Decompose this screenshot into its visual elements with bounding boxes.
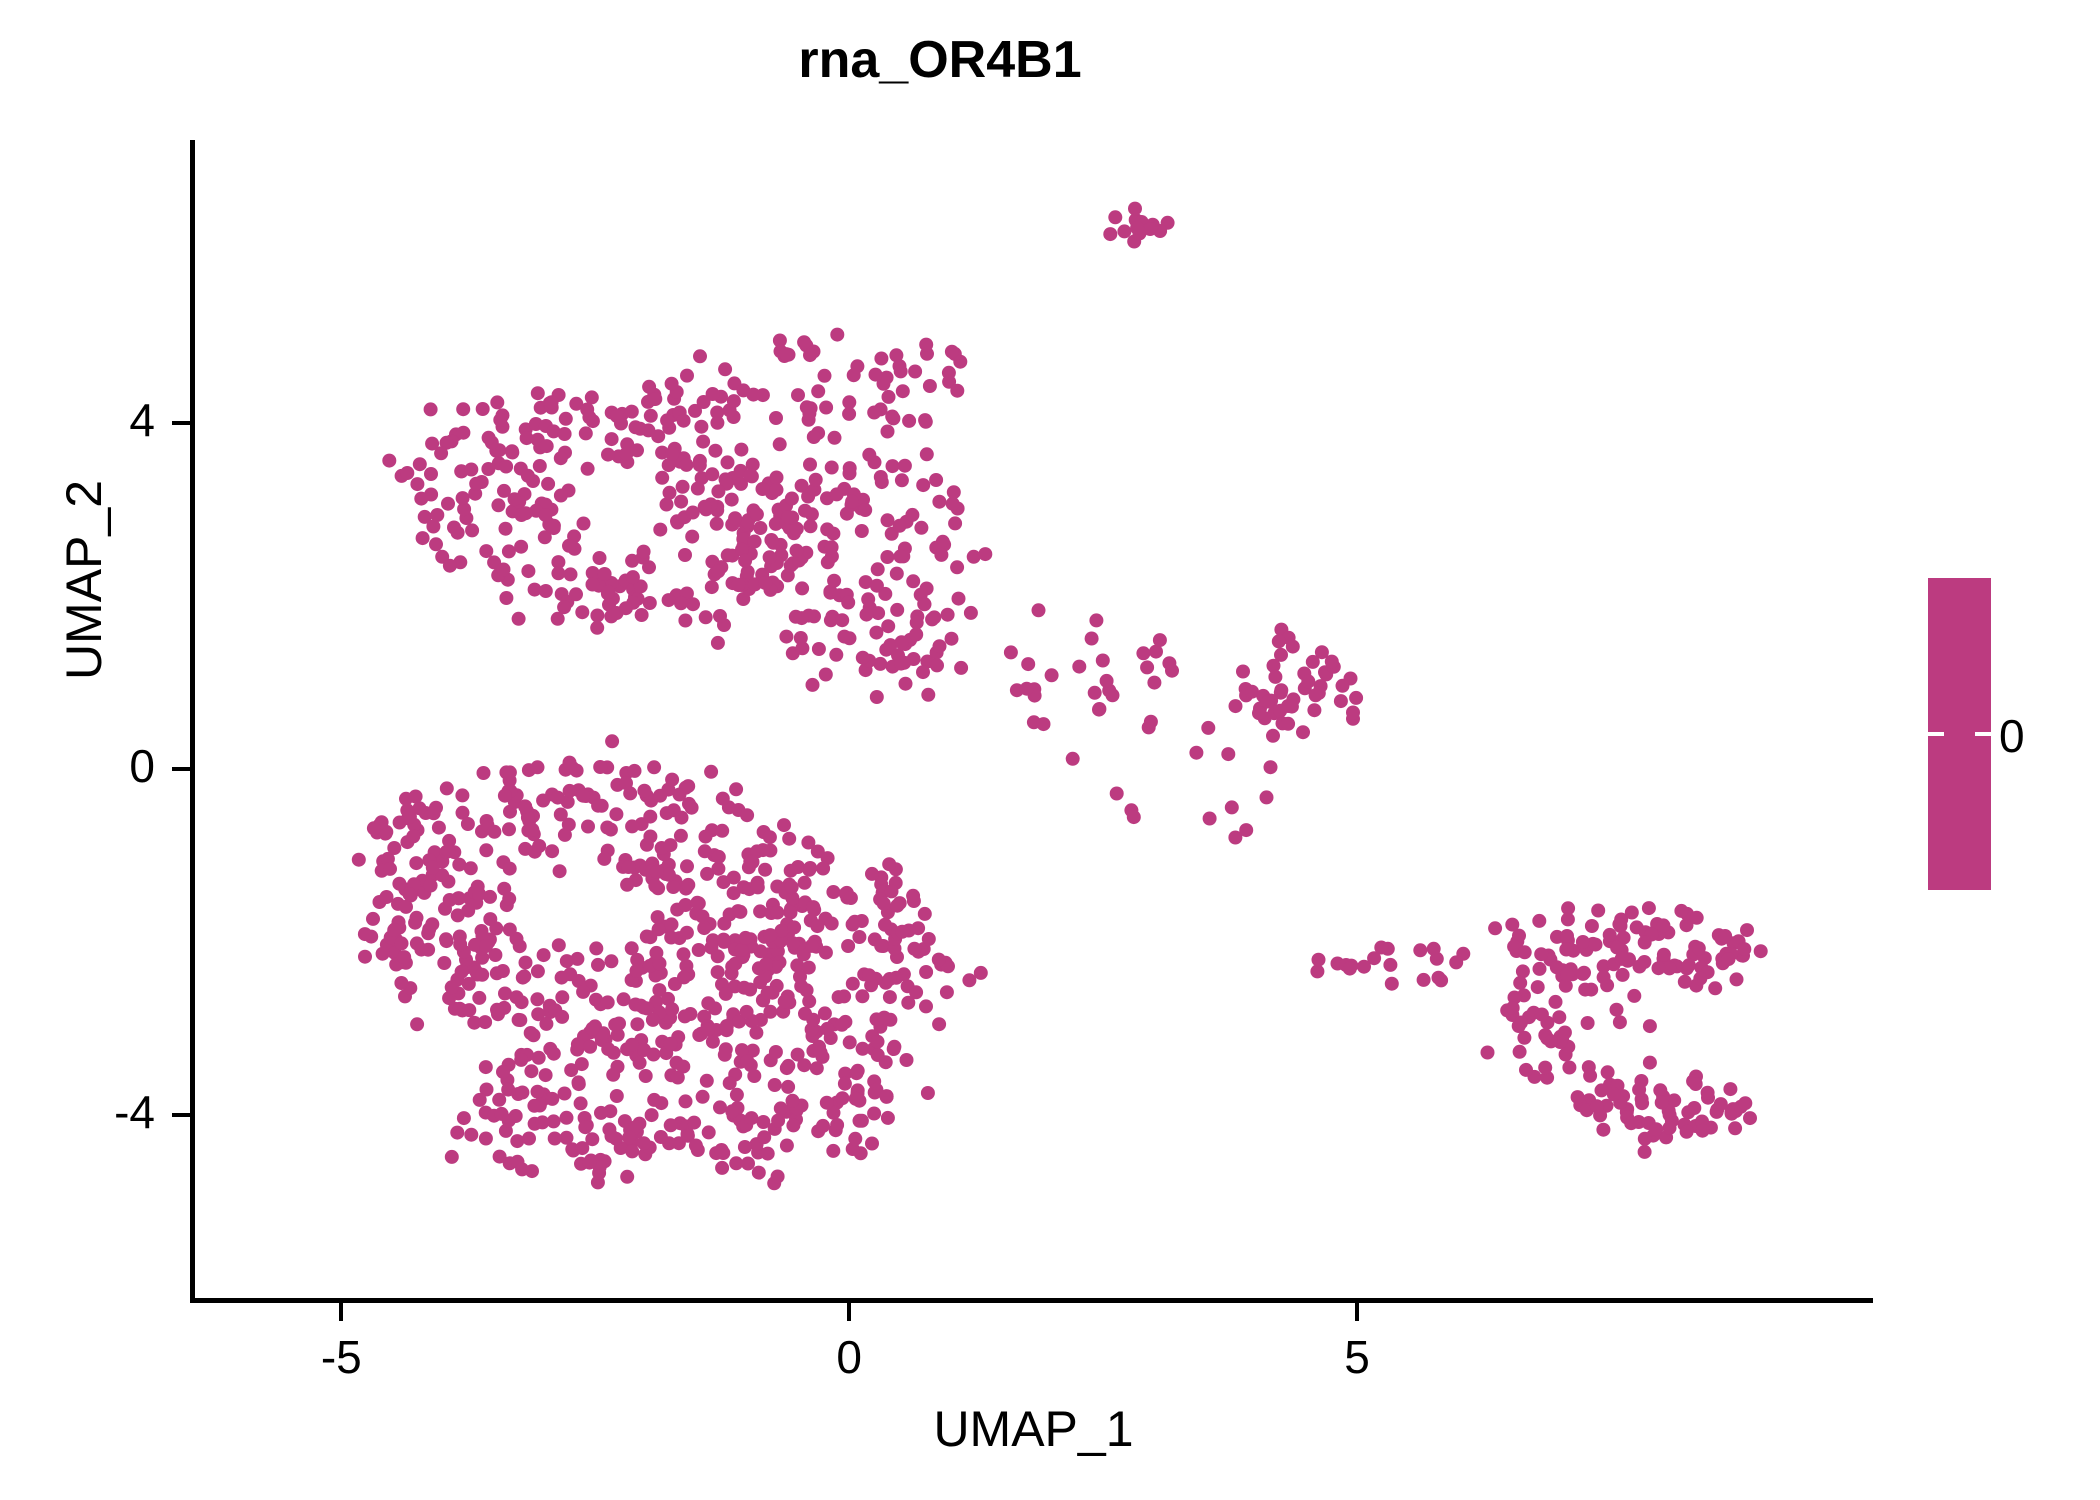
scatter-point (664, 1118, 678, 1132)
scatter-point (430, 508, 444, 522)
scatter-point (680, 926, 694, 940)
scatter-point (914, 521, 928, 535)
scatter-point (545, 844, 559, 858)
scatter-point (569, 587, 583, 601)
scatter-point (664, 838, 678, 852)
scatter-point (829, 648, 843, 662)
scatter-point (601, 585, 615, 599)
scatter-point (952, 592, 966, 606)
scatter-point (497, 563, 511, 577)
scatter-point (499, 460, 513, 474)
scatter-point (609, 807, 623, 821)
scatter-point (827, 574, 841, 588)
scatter-point (604, 954, 618, 968)
scatter-point (1100, 674, 1114, 688)
scatter-point (496, 964, 510, 978)
colorbar-tick-left (1928, 732, 1944, 736)
scatter-point (698, 500, 712, 514)
scatter-point (721, 455, 735, 469)
scatter-point (1696, 1124, 1710, 1138)
scatter-point (625, 819, 639, 833)
scatter-point (739, 931, 753, 945)
scatter-point (1531, 980, 1545, 994)
scatter-point (461, 817, 475, 831)
scatter-point (770, 906, 784, 920)
scatter-point (1481, 1046, 1495, 1060)
scatter-point (749, 1026, 763, 1040)
scatter-point (395, 936, 409, 950)
scatter-point (558, 828, 572, 842)
scatter-point (698, 844, 712, 858)
scatter-point (1307, 703, 1321, 717)
scatter-point (1690, 911, 1704, 925)
scatter-point (773, 437, 787, 451)
scatter-point (875, 475, 889, 489)
scatter-point (410, 1017, 424, 1031)
x-tick-label: 5 (1297, 1330, 1417, 1384)
scatter-point (1581, 1016, 1595, 1030)
scatter-point (409, 790, 423, 804)
scatter-point (1737, 942, 1751, 956)
scatter-point (425, 437, 439, 451)
scatter-point (746, 855, 760, 869)
scatter-point (855, 1114, 869, 1128)
scatter-point (675, 811, 689, 825)
scatter-point (906, 574, 920, 588)
scatter-point (382, 454, 396, 468)
scatter-point (1228, 831, 1242, 845)
scatter-point (1108, 210, 1122, 224)
scatter-point (1066, 752, 1080, 766)
scatter-point (677, 970, 691, 984)
scatter-point (653, 789, 667, 803)
scatter-point (608, 1018, 622, 1032)
scatter-point (1612, 917, 1626, 931)
scatter-point (662, 868, 676, 882)
scatter-point (562, 539, 576, 553)
scatter-point (651, 910, 665, 924)
scatter-point (681, 878, 695, 892)
scatter-point (605, 734, 619, 748)
scatter-point (830, 1118, 844, 1132)
scatter-point (1603, 928, 1617, 942)
scatter-point (879, 1055, 893, 1069)
scatter-point (883, 972, 897, 986)
scatter-point (383, 862, 397, 876)
scatter-point (708, 444, 722, 458)
scatter-point (646, 1013, 660, 1027)
scatter-point (740, 808, 754, 822)
colorbar-tick-right (1975, 732, 1991, 736)
scatter-point (770, 483, 784, 497)
scatter-point (626, 570, 640, 584)
scatter-point (510, 1134, 524, 1148)
scatter-point (1021, 657, 1035, 671)
scatter-point (521, 564, 535, 578)
scatter-point (711, 949, 725, 963)
scatter-point (1201, 721, 1215, 735)
scatter-point (630, 443, 644, 457)
scatter-point (625, 1038, 639, 1052)
scatter-point (539, 508, 553, 522)
scatter-point (1583, 1069, 1597, 1083)
scatter-point (1130, 221, 1144, 235)
scatter-point (1513, 976, 1527, 990)
scatter-point (457, 1111, 471, 1125)
scatter-point (819, 668, 833, 682)
y-axis-label-wrapper: UMAP_2 (44, 180, 124, 980)
scatter-point (1552, 1010, 1566, 1024)
scatter-point (366, 912, 380, 926)
scatter-point (721, 548, 735, 562)
scatter-point (1596, 1123, 1610, 1137)
scatter-point (524, 1026, 538, 1040)
scatter-point (560, 954, 574, 968)
scatter-point (490, 395, 504, 409)
scatter-point (547, 1047, 561, 1061)
scatter-point (835, 613, 849, 627)
scatter-point (727, 394, 741, 408)
scatter-point (918, 907, 932, 921)
scatter-point (462, 1003, 476, 1017)
scatter-point (728, 511, 742, 525)
scatter-point (1723, 1082, 1737, 1096)
scatter-point (1560, 967, 1574, 981)
scatter-point (580, 403, 594, 417)
scatter-point (676, 480, 690, 494)
scatter-point (779, 347, 793, 361)
umap-feature-plot: rna_OR4B1 -505 40-4 UMAP_1 UMAP_2 0 (0, 0, 2100, 1500)
scatter-point (850, 359, 864, 373)
scatter-point (399, 900, 413, 914)
y-tick-mark (172, 1113, 190, 1117)
scatter-point (1153, 633, 1167, 647)
scatter-point (699, 830, 713, 844)
scatter-point (858, 503, 872, 517)
scatter-point (758, 576, 772, 590)
scatter-point (1301, 674, 1315, 688)
scatter-point (874, 352, 888, 366)
scatter-point (678, 548, 692, 562)
scatter-point (397, 950, 411, 964)
scatter-point (1143, 222, 1157, 236)
scatter-point (865, 1137, 879, 1151)
scatter-point (814, 1046, 828, 1060)
scatter-point (1708, 981, 1722, 995)
scatter-point (846, 918, 860, 932)
scatter-point (861, 592, 875, 606)
scatter-point (791, 388, 805, 402)
scatter-point (1635, 1096, 1649, 1110)
scatter-point (1738, 1096, 1752, 1110)
scatter-point (869, 368, 883, 382)
scatter-point (477, 766, 491, 780)
scatter-point (705, 467, 719, 481)
scatter-point (515, 995, 529, 1009)
scatter-point (479, 544, 493, 558)
scatter-point (610, 409, 624, 423)
scatter-point (819, 401, 833, 415)
scatter-point (503, 862, 517, 876)
scatter-point (877, 897, 891, 911)
scatter-point (932, 495, 946, 509)
scatter-point (578, 1120, 592, 1134)
scatter-point (705, 580, 719, 594)
scatter-point (1595, 1083, 1609, 1097)
scatter-point (855, 989, 869, 1003)
x-axis-label: UMAP_1 (194, 1400, 1873, 1458)
scatter-point (662, 593, 676, 607)
scatter-point (881, 619, 895, 633)
scatter-point (906, 889, 920, 903)
scatter-point (846, 977, 860, 991)
scatter-point (862, 448, 876, 462)
scatter-point (1559, 943, 1573, 957)
scatter-point (1578, 983, 1592, 997)
scatter-point (515, 1162, 529, 1176)
scatter-point (797, 335, 811, 349)
scatter-point (1689, 1077, 1703, 1091)
scatter-point (964, 606, 978, 620)
scatter-point (898, 459, 912, 473)
scatter-point (519, 506, 533, 520)
scatter-point (725, 1104, 739, 1118)
scatter-point (1558, 1026, 1572, 1040)
scatter-point (804, 519, 818, 533)
scatter-point (746, 388, 760, 402)
scatter-point (733, 905, 747, 919)
scatter-point (1680, 1125, 1694, 1139)
scatter-point (881, 513, 895, 527)
scatter-point (601, 995, 615, 1009)
x-tick-mark (847, 1303, 851, 1321)
scatter-point (1740, 923, 1754, 937)
scatter-point (916, 478, 930, 492)
scatter-point (558, 427, 572, 441)
scatter-point (1642, 901, 1656, 915)
scatter-point (1638, 1145, 1652, 1159)
scatter-point (1349, 691, 1363, 705)
scatter-point (893, 549, 907, 563)
scatter-point (630, 1017, 644, 1031)
scatter-point (643, 830, 657, 844)
y-axis-label: UMAP_2 (44, 180, 124, 980)
scatter-point (679, 1094, 693, 1108)
scatter-point (795, 581, 809, 595)
scatter-point (576, 789, 590, 803)
scatter-point (900, 1053, 914, 1067)
scatter-point (1357, 960, 1371, 974)
scatter-point (666, 880, 680, 894)
scatter-point (678, 1009, 692, 1023)
scatter-point (945, 632, 959, 646)
scatter-point (517, 969, 531, 983)
scatter-point (845, 495, 859, 509)
scatter-point (719, 987, 733, 1001)
scatter-point (483, 912, 497, 926)
scatter-point (692, 943, 706, 957)
scatter-point (413, 457, 427, 471)
scatter-point (737, 981, 751, 995)
scatter-point (619, 776, 633, 790)
scatter-point (1517, 1031, 1531, 1045)
scatter-point (478, 1015, 492, 1029)
scatter-point (787, 920, 801, 934)
scatter-point (782, 510, 796, 524)
scatter-point (650, 865, 664, 879)
scatter-point (555, 1010, 569, 1024)
scatter-point (819, 946, 833, 960)
scatter-point (575, 1057, 589, 1071)
scatter-point (680, 369, 694, 383)
scatter-point (571, 1037, 585, 1051)
scatter-point (841, 596, 855, 610)
scatter-point (835, 1091, 849, 1105)
scatter-point (1571, 1090, 1585, 1104)
x-tick-mark (339, 1303, 343, 1321)
scatter-point (559, 412, 573, 426)
scatter-point (925, 612, 939, 626)
scatter-point (1417, 973, 1431, 987)
scatter-point (706, 387, 720, 401)
scatter-point (809, 473, 823, 487)
scatter-point (910, 616, 924, 630)
scatter-point (531, 1085, 545, 1099)
scatter-point (869, 626, 883, 640)
scatter-point (1088, 686, 1102, 700)
scatter-point (518, 842, 532, 856)
scatter-point (498, 987, 512, 1001)
scatter-point (738, 554, 752, 568)
scatter-point (680, 859, 694, 873)
scatter-point (770, 471, 784, 485)
scatter-point (601, 1042, 615, 1056)
scatter-point (867, 406, 881, 420)
scatter-point (855, 524, 869, 538)
scatter-point (950, 384, 964, 398)
scatter-point (717, 875, 731, 889)
scatter-point (849, 1092, 863, 1106)
scatter-point (1728, 1121, 1742, 1135)
scatter-point (1718, 929, 1732, 943)
scatter-point (1561, 901, 1575, 915)
scatter-point (710, 517, 724, 531)
scatter-point (1147, 676, 1161, 690)
scatter-point (551, 791, 565, 805)
scatter-point (479, 843, 493, 857)
scatter-point (647, 760, 661, 774)
scatter-point (483, 890, 497, 904)
scatter-point (880, 550, 894, 564)
scatter-point (424, 467, 438, 481)
scatter-point (665, 773, 679, 787)
scatter-point (1020, 682, 1034, 696)
scatter-point (644, 409, 658, 423)
scatter-point (1589, 938, 1603, 952)
scatter-point (1189, 746, 1203, 760)
scatter-point (720, 1019, 734, 1033)
scatter-point (367, 821, 381, 835)
scatter-point (916, 665, 930, 679)
scatter-point (1655, 1096, 1669, 1110)
scatter-point (648, 392, 662, 406)
scatter-point (718, 362, 732, 376)
scatter-point (907, 942, 921, 956)
scatter-point (851, 1064, 865, 1078)
scatter-point (1225, 800, 1239, 814)
scatter-point (1374, 941, 1388, 955)
scatter-point (786, 1094, 800, 1108)
scatter-point (406, 829, 420, 843)
scatter-point (735, 943, 749, 957)
scatter-point (1562, 1061, 1576, 1075)
scatter-point (479, 939, 493, 953)
scatter-point (642, 380, 656, 394)
scatter-point (429, 537, 443, 551)
scatter-point (1273, 704, 1287, 718)
scatter-point (763, 1005, 777, 1019)
scatter-point (465, 523, 479, 537)
scatter-point (811, 384, 825, 398)
scatter-point (502, 822, 516, 836)
scatter-point (865, 867, 879, 881)
scatter-point (769, 1045, 783, 1059)
scatter-point (729, 782, 743, 796)
scatter-point (694, 420, 708, 434)
colorbar-legend[interactable] (1928, 578, 1991, 890)
scatter-point (574, 1096, 588, 1110)
scatter-point (665, 377, 679, 391)
scatter-point (403, 887, 417, 901)
scatter-point (1653, 1083, 1667, 1097)
scatter-point (424, 879, 438, 893)
scatter-point (414, 492, 428, 506)
plot-panel (194, 140, 1873, 1302)
scatter-point (761, 986, 775, 1000)
scatter-point (945, 345, 959, 359)
scatter-point (693, 349, 707, 363)
scatter-point (909, 628, 923, 642)
scatter-point (1754, 944, 1768, 958)
scatter-point (753, 521, 767, 535)
scatter-point (679, 898, 693, 912)
scatter-point (469, 477, 483, 491)
scatter-point (585, 390, 599, 404)
scatter-point (691, 482, 705, 496)
scatter-point (530, 992, 544, 1006)
scatter-point (1649, 1122, 1663, 1136)
scatter-point (358, 950, 372, 964)
scatter-point (940, 985, 954, 999)
scatter-point (1625, 906, 1639, 920)
scatter-point (769, 411, 783, 425)
scatter-point (617, 992, 631, 1006)
scatter-point (572, 1077, 586, 1091)
scatter-point (472, 991, 486, 1005)
scatter-point (424, 402, 438, 416)
scatter-point (1678, 975, 1692, 989)
scatter-point (941, 608, 955, 622)
scatter-point (352, 853, 366, 867)
scatter-point (653, 523, 667, 537)
scatter-point (1638, 936, 1652, 950)
scatter-point (637, 784, 651, 798)
scatter-point (1334, 694, 1348, 708)
scatter-point (756, 482, 770, 496)
scatter-point (514, 1053, 528, 1067)
scatter-point (764, 533, 778, 547)
scatter-point (745, 1111, 759, 1125)
